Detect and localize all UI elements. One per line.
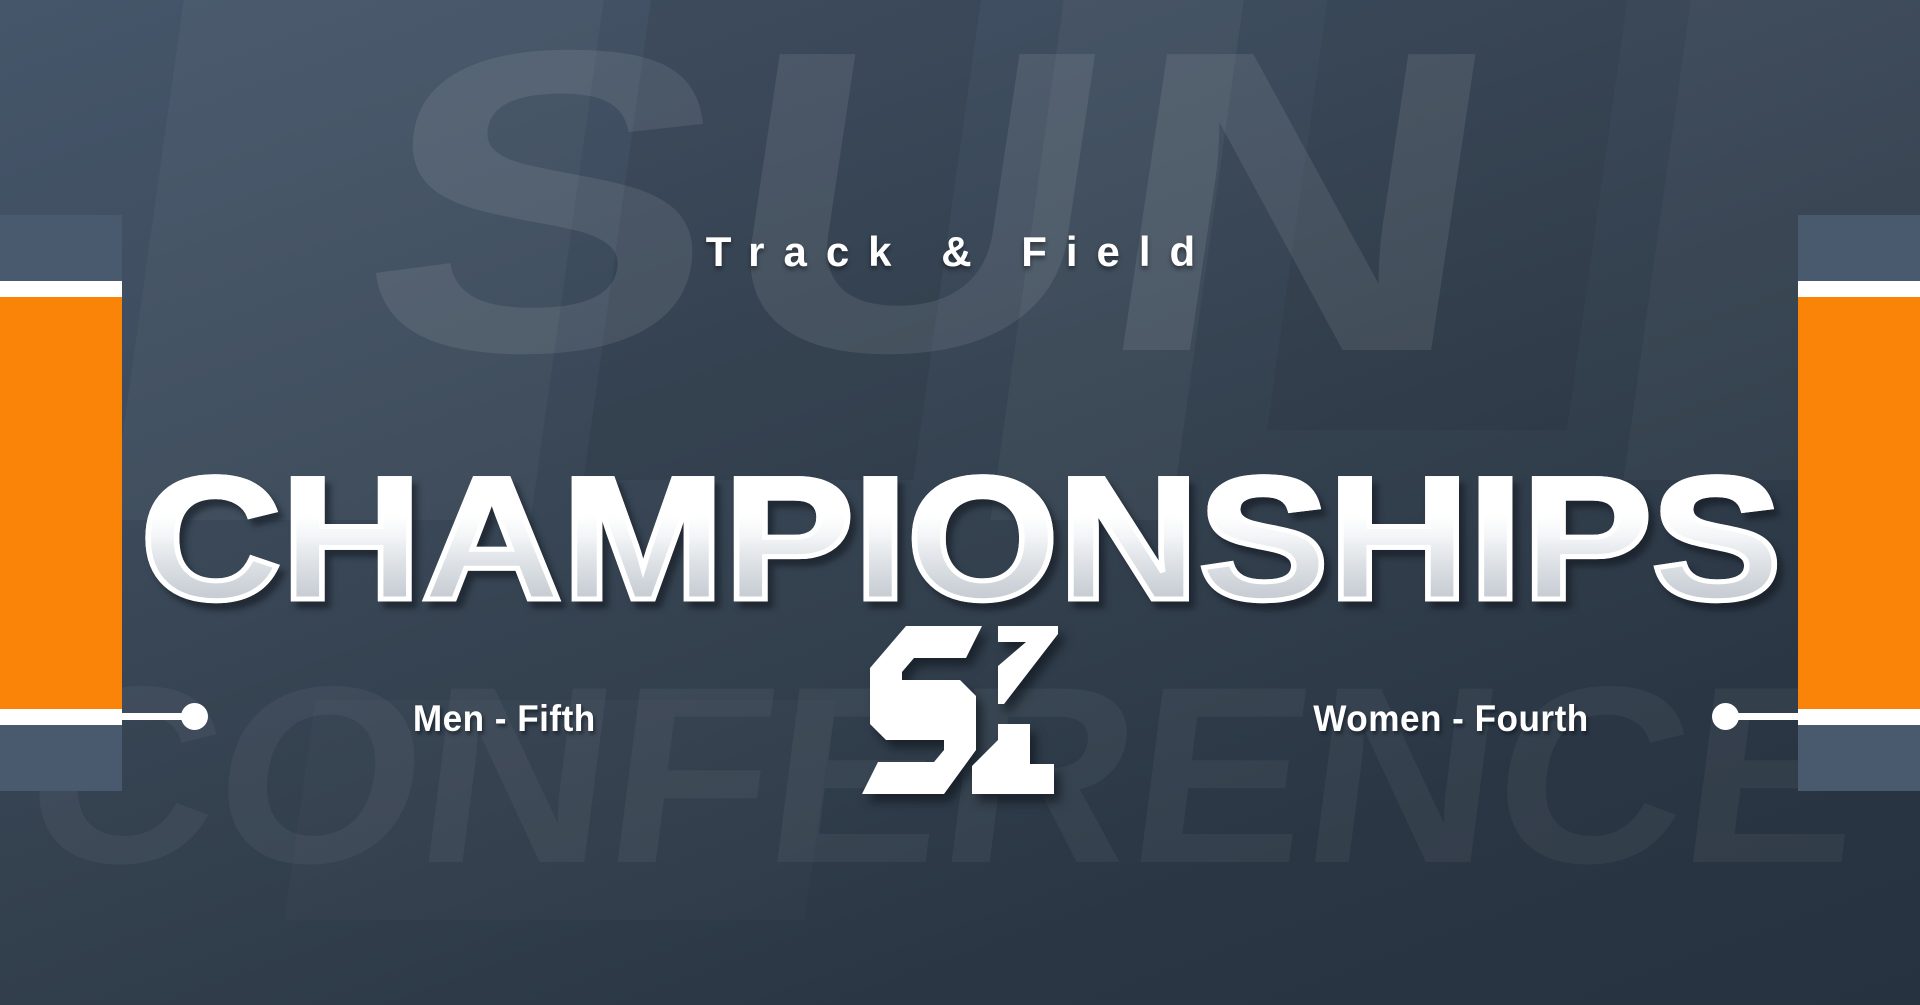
connector-dot-right — [1712, 703, 1739, 730]
slate-slab-bottom — [1798, 725, 1920, 791]
result-men: Men - Fifth — [413, 698, 596, 740]
white-stripe-top — [1798, 281, 1920, 297]
conference-logo-icon — [848, 614, 1072, 806]
slate-slab-bottom — [0, 725, 122, 791]
headline-container: CHAMPIONSHIPS — [0, 452, 1920, 627]
championship-graphic: SUN CONFERENCE Track & Field CHAMPIONSHI… — [0, 0, 1920, 1005]
white-stripe-top — [0, 281, 122, 297]
connector-dot-left — [181, 703, 208, 730]
result-women: Women - Fourth — [1313, 698, 1588, 740]
white-stripe-bottom — [1798, 709, 1920, 725]
page-title: CHAMPIONSHIPS — [140, 452, 1781, 627]
watermark-sun: SUN — [343, 18, 1521, 388]
sport-eyebrow: Track & Field — [0, 228, 1920, 276]
background-facet — [1267, 0, 1633, 430]
white-stripe-bottom — [0, 709, 122, 725]
